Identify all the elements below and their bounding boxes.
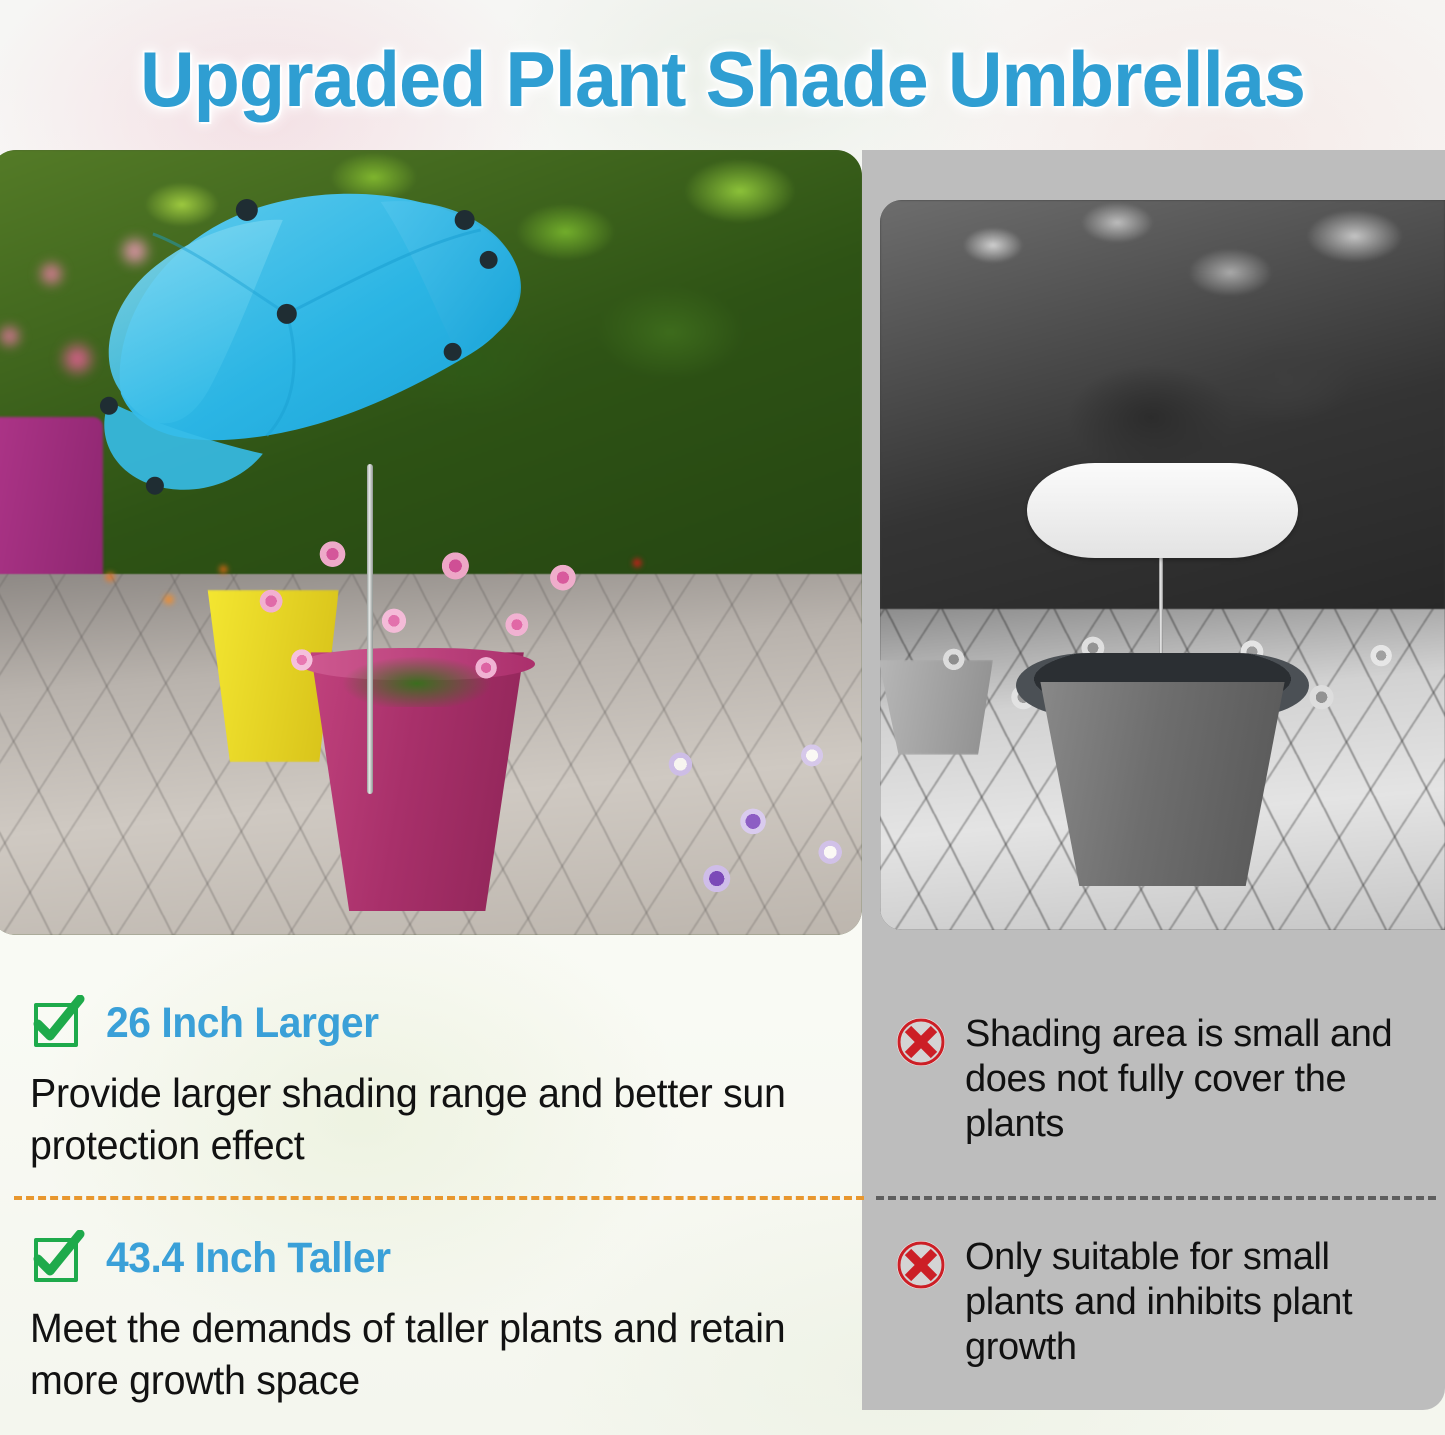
bw-small-disc-umbrella <box>1027 463 1298 558</box>
pro-2-heading-row: 43.4 Inch Taller <box>30 1230 850 1286</box>
con-1-text: Shading area is small and does not fully… <box>965 1012 1430 1146</box>
x-circle-icon <box>895 1239 947 1291</box>
check-icon <box>30 995 86 1051</box>
left-scene <box>0 150 862 935</box>
competitor-product-photo <box>880 200 1445 930</box>
pro-1-body: Provide larger shading range and better … <box>30 1067 808 1172</box>
right-divider <box>876 1196 1436 1200</box>
pro-1-heading-row: 26 Inch Larger <box>30 995 850 1051</box>
pro-feature-1: 26 Inch Larger Provide larger shading ra… <box>30 995 850 1172</box>
left-divider <box>14 1196 864 1200</box>
pro-2-body: Meet the demands of taller plants and re… <box>30 1302 808 1407</box>
umbrella-pole <box>367 464 373 794</box>
white-purple-petunias <box>635 707 862 927</box>
pro-2-title: 43.4 Inch Taller <box>106 1234 391 1283</box>
page-title: Upgraded Plant Shade Umbrellas <box>22 34 1424 125</box>
pro-1-title: 26 Inch Larger <box>106 999 379 1048</box>
infographic-page: Upgraded Plant Shade Umbrellas <box>0 0 1445 1435</box>
blue-umbrella-canopy <box>51 174 627 504</box>
con-feature-1: Shading area is small and does not fully… <box>895 1012 1430 1146</box>
check-icon <box>30 1230 86 1286</box>
pink-daisy-cluster <box>225 511 609 707</box>
con-feature-2: Only suitable for small plants and inhib… <box>895 1235 1430 1369</box>
con-2-text: Only suitable for small plants and inhib… <box>965 1235 1430 1369</box>
upgraded-product-photo <box>0 150 862 935</box>
pro-feature-2: 43.4 Inch Taller Meet the demands of tal… <box>30 1230 850 1407</box>
bw-umbrella-stick <box>1159 543 1163 653</box>
x-circle-icon <box>895 1016 947 1068</box>
